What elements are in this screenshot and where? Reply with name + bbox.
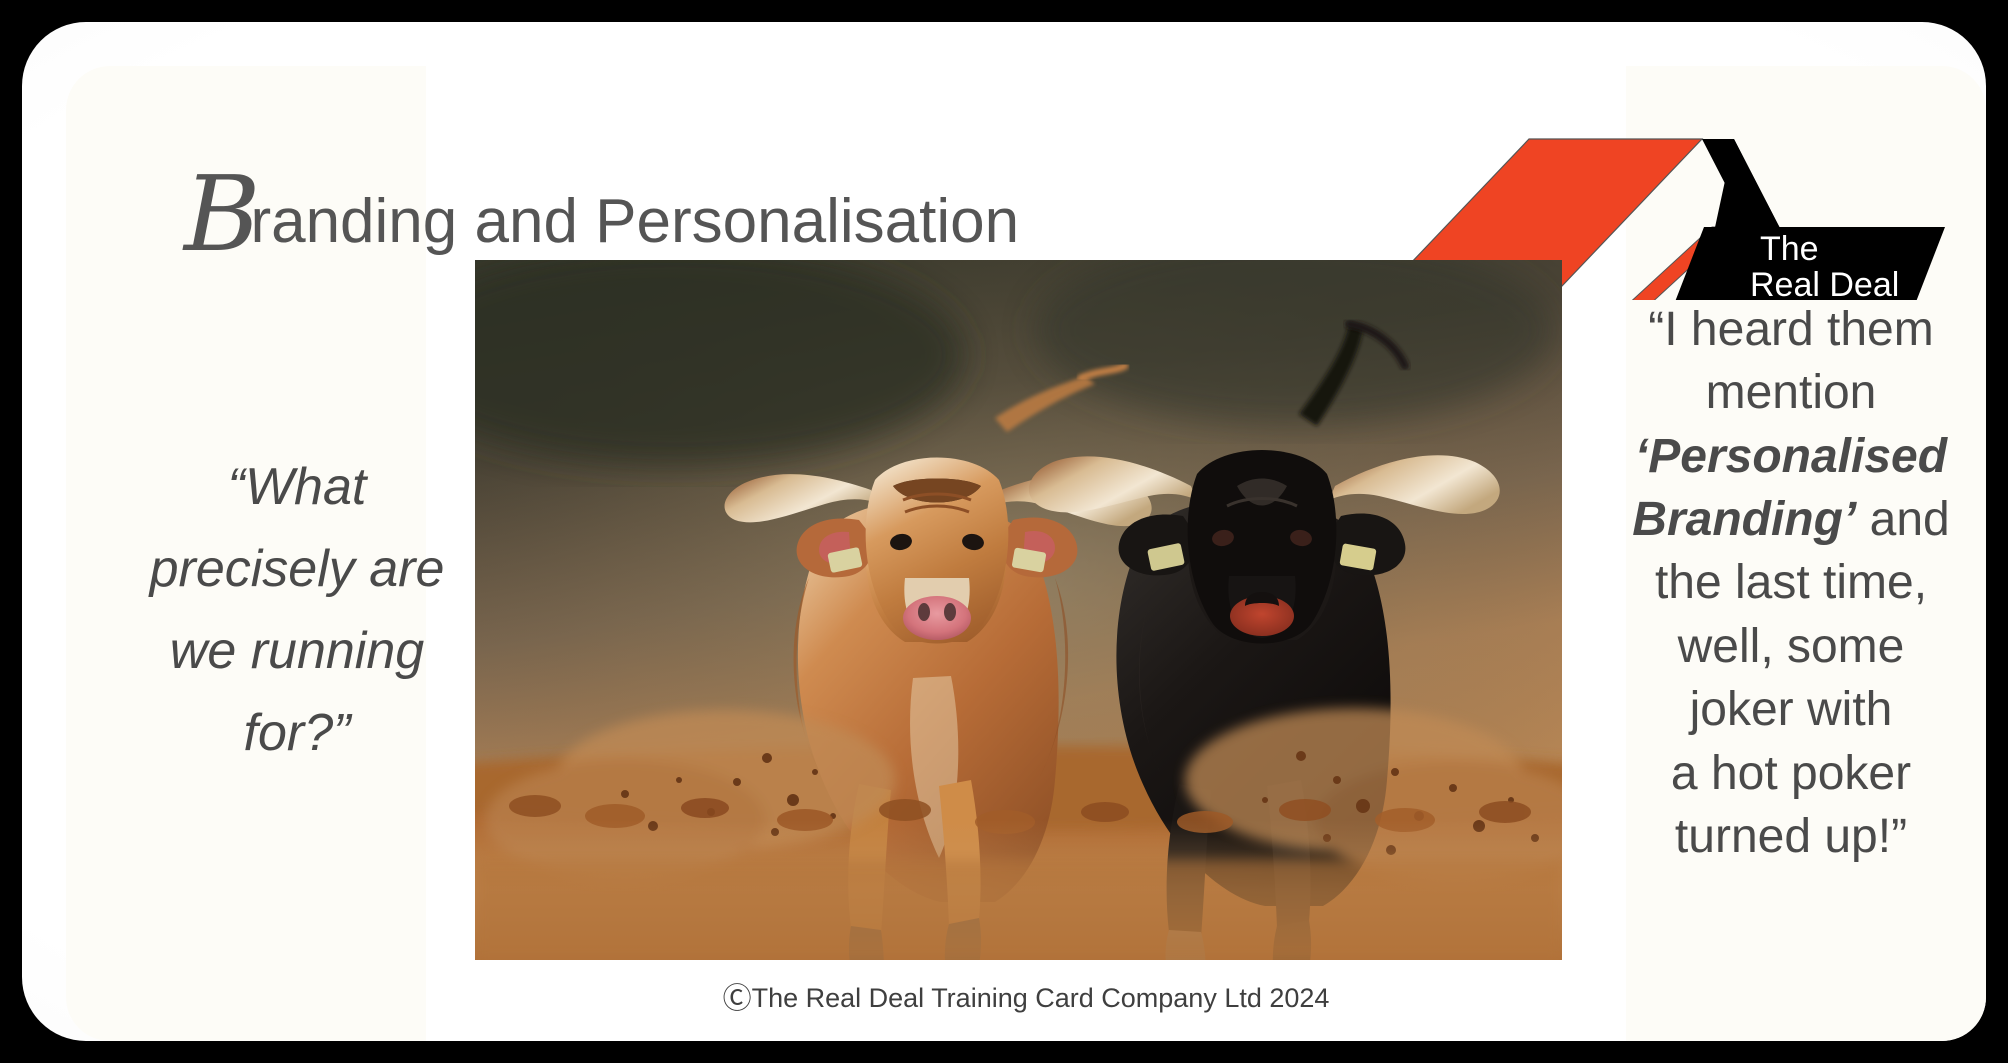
quote-right-line: turned up!” bbox=[1616, 805, 1966, 868]
quote-right-line-emphasis: Branding’ and bbox=[1616, 488, 1966, 551]
title-script-initial: B bbox=[184, 162, 250, 266]
copyright-footer: ⒸThe Real Deal Training Card Company Ltd… bbox=[66, 974, 1986, 1016]
quote-right-line-emphasis: ‘Personalised bbox=[1616, 425, 1966, 488]
quote-right-emphasis-a: ‘Personalised bbox=[1635, 430, 1947, 483]
quote-right-line: the last time, bbox=[1616, 551, 1966, 614]
brown-bull-nose bbox=[903, 596, 971, 640]
card-bevel-frame: B randing and Personalisation The bbox=[22, 22, 1986, 1041]
quote-left-line: precisely are bbox=[132, 528, 462, 610]
quote-right: “I heard them mention ‘Personalised Bran… bbox=[1616, 298, 1966, 868]
copyright-text: The Real Deal Training Card Company Ltd … bbox=[752, 983, 1330, 1013]
quote-right-line: joker with bbox=[1616, 678, 1966, 741]
quote-right-line: “I heard them bbox=[1616, 298, 1966, 361]
quote-left: “What precisely are we running for?” bbox=[132, 446, 462, 775]
bulls-photo bbox=[475, 260, 1562, 960]
logo-line-2: Real Deal bbox=[1750, 266, 1899, 300]
card-face: B randing and Personalisation The bbox=[66, 66, 1986, 1041]
quote-right-line: mention bbox=[1616, 361, 1966, 424]
quote-left-line: we running bbox=[132, 610, 462, 692]
quote-left-line: for?” bbox=[132, 692, 462, 774]
page-title: B randing and Personalisation bbox=[184, 154, 1019, 258]
quote-right-line: a hot poker bbox=[1616, 742, 1966, 805]
copyright-icon: Ⓒ bbox=[723, 983, 752, 1015]
logo-line-1: The bbox=[1760, 230, 1819, 268]
title-text: randing and Personalisation bbox=[250, 186, 1019, 257]
quote-left-line: “What bbox=[132, 446, 462, 528]
quote-right-emphasis-b: Branding’ bbox=[1632, 493, 1856, 546]
card-stage: B randing and Personalisation The bbox=[0, 0, 2008, 1063]
quote-right-and: and bbox=[1856, 493, 1949, 546]
quote-right-line: well, some bbox=[1616, 615, 1966, 678]
